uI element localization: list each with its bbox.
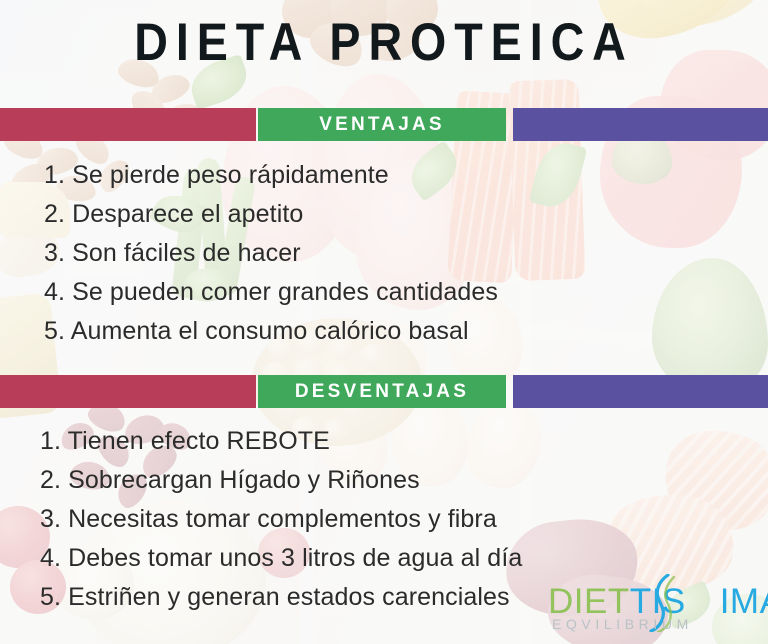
logo-text-ima: IMA [720,582,768,621]
list-item: 1. Se pierde peso rápidamente [44,156,498,195]
list-item: 4. Se pueden comer grandes cantidades [44,273,498,312]
advantages-banner-label: VENTAJAS [319,114,445,136]
list-item: 3. Son fáciles de hacer [44,234,498,273]
banner-left-red-bar [0,108,256,141]
advantages-banner: VENTAJAS [0,108,768,141]
infographic-poster: DIETA PROTEICA VENTAJAS 1. Se pierde pes… [0,0,768,644]
list-item: 5. Estriñen y generan estados carenciale… [40,578,522,617]
logo-tagline: EQVILIBRIUM [552,616,693,632]
list-item: 3. Necesitas tomar complementos y fibra [40,500,522,539]
disadvantages-banner-center: DESVENTAJAS [258,375,506,408]
disadvantages-list: 1. Tienen efecto REBOTE 2. Sobrecargan H… [40,422,522,617]
banner-left-red-bar [0,375,256,408]
list-item: 4. Debes tomar unos 3 litros de agua al … [40,539,522,578]
poster-content: DIETA PROTEICA VENTAJAS 1. Se pierde pes… [0,0,768,644]
list-item: 1. Tienen efecto REBOTE [40,422,522,461]
list-item: 2. Sobrecargan Hígado y Riñones [40,461,522,500]
page-title: DIETA PROTEICA [46,14,722,72]
advantages-banner-center: VENTAJAS [258,108,506,141]
disadvantages-banner: DESVENTAJAS [0,375,768,408]
disadvantages-banner-label: DESVENTAJAS [295,381,469,403]
advantages-list: 1. Se pierde peso rápidamente 2. Despare… [44,156,498,351]
brand-logo[interactable]: DIETTISIMA EQVILIBRIUM [548,576,754,638]
banner-right-purple-bar [513,375,768,408]
banner-right-purple-bar [513,108,768,141]
list-item: 5. Aumenta el consumo calórico basal [44,312,498,351]
list-item: 2. Desparece el apetito [44,195,498,234]
